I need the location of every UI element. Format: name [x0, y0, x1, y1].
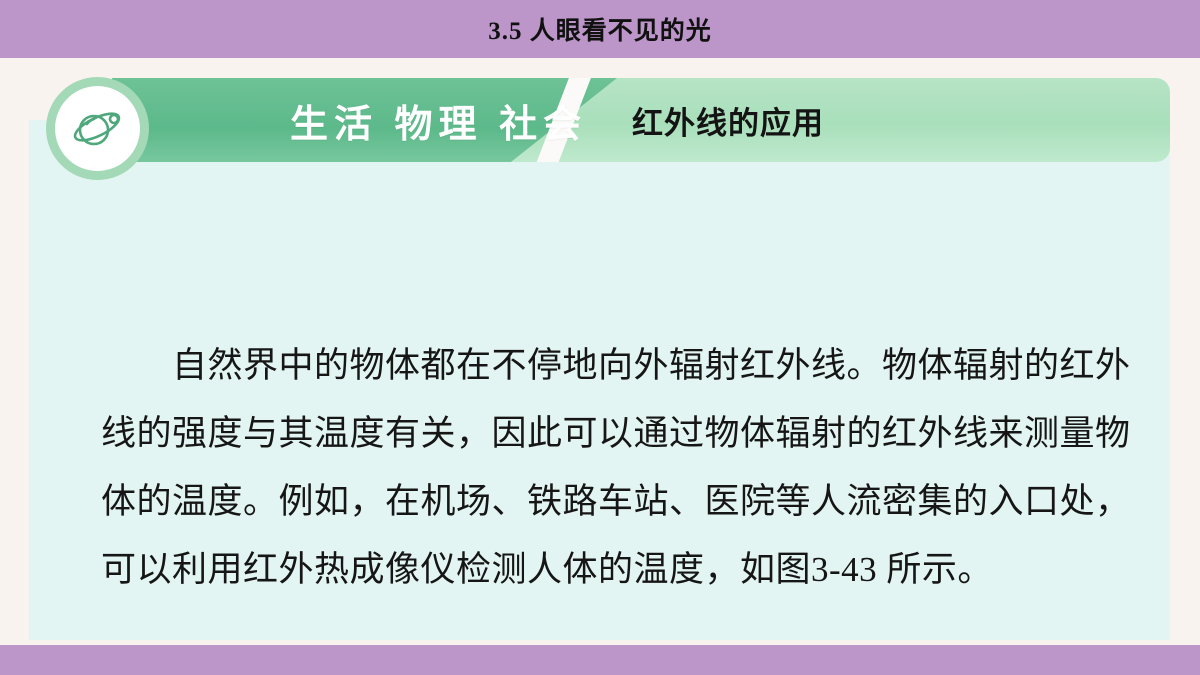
body-paragraph: 自然界中的物体都在不停地向外辐射红外线。物体辐射的红外线的强度与其温度有关，因此…	[101, 332, 1161, 604]
content-panel: 自然界中的物体都在不停地向外辐射红外线。物体辐射的红外线的强度与其温度有关，因此…	[29, 120, 1170, 640]
planet-badge-inner	[55, 86, 140, 171]
planet-icon	[66, 97, 130, 161]
page-title: 3.5 人眼看不见的光	[488, 11, 712, 47]
planet-badge	[46, 77, 149, 180]
slide-bottom-bar	[0, 645, 1200, 675]
slide-title-bar: 3.5 人眼看不见的光	[0, 0, 1200, 58]
section-banner: 生活 物理 社会 红外线的应用	[112, 78, 1170, 162]
banner-right-label: 红外线的应用	[632, 78, 824, 162]
slide: 3.5 人眼看不见的光 自然界中的物体都在不停地向外辐射红外线。物体辐射的红外线…	[0, 0, 1200, 675]
banner-left-label: 生活 物理 社会	[290, 78, 587, 162]
